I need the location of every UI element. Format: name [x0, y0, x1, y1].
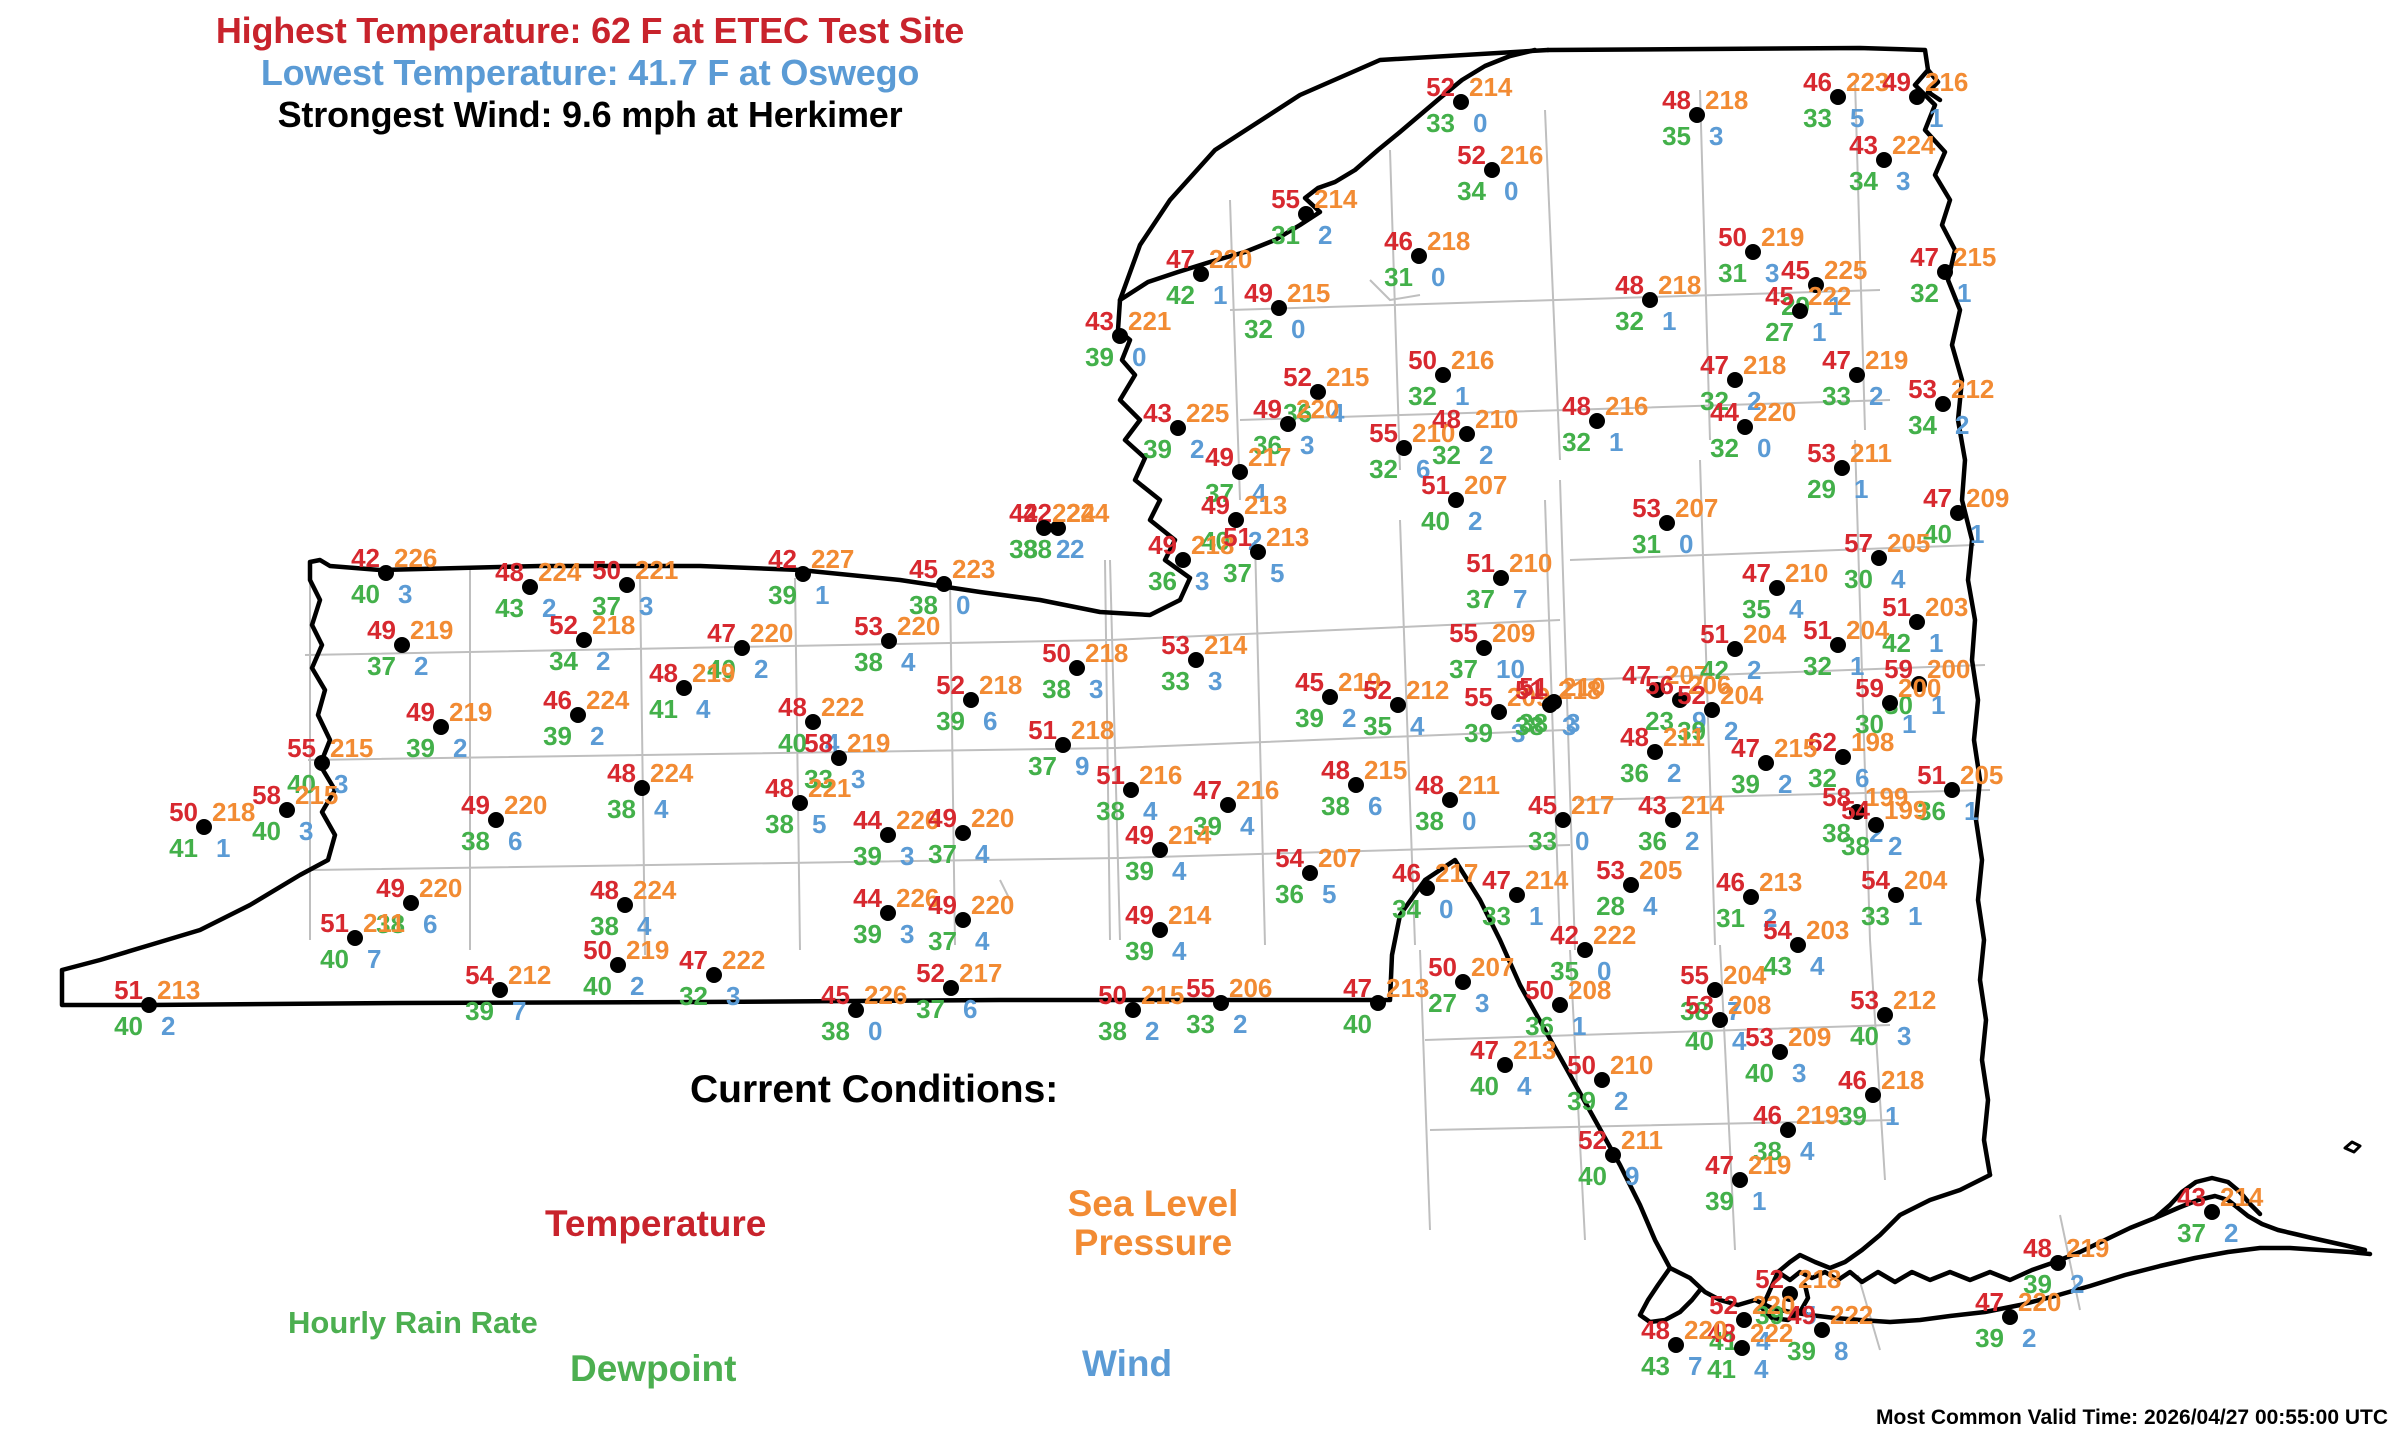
station-dewpoint-value: 27 — [1428, 990, 1457, 1016]
station-wind-value: 6 — [423, 911, 437, 937]
station-pressure-value: 214 — [2220, 1184, 2263, 1210]
station-temperature-value: 50 — [583, 937, 612, 963]
station-dot-icon — [1704, 702, 1720, 718]
station-pressure-value: 220 — [1684, 1317, 1727, 1343]
station-temperature-value: 47 — [1910, 244, 1939, 270]
station-pressure-value: 216 — [1236, 777, 1279, 803]
station-dot-icon — [1577, 942, 1593, 958]
station-pressure-value: 204 — [1723, 962, 1766, 988]
station-pressure-value: 214 — [1525, 867, 1568, 893]
station-pressure-value: 224 — [538, 559, 581, 585]
station-pressure-value: 206 — [1229, 975, 1272, 1001]
station-temperature-value: 47 — [1731, 735, 1760, 761]
station-temperature-value: 51 — [1028, 717, 1057, 743]
station-dot-icon — [1712, 1012, 1728, 1028]
station-dot-icon — [1411, 248, 1427, 264]
station-dewpoint-value: 40 — [1470, 1073, 1499, 1099]
station-pressure-value: 217 — [1435, 860, 1478, 886]
station-temperature-value: 51 — [1421, 472, 1450, 498]
station-wind-value: 1 — [1752, 1188, 1766, 1214]
station-wind-value: 2 — [1468, 508, 1482, 534]
station-wind-value: 5 — [1850, 105, 1864, 131]
station-dewpoint-value: 43 — [495, 595, 524, 621]
station-dot-icon — [1188, 652, 1204, 668]
station-dot-icon — [848, 1002, 864, 1018]
station-temperature-value: 49 — [1882, 69, 1911, 95]
station-dot-icon — [1170, 420, 1186, 436]
station-wind-value: 2 — [1318, 222, 1332, 248]
station-wind-value: 0 — [1291, 316, 1305, 342]
station-wind-value: 3 — [1300, 432, 1314, 458]
station-pressure-value: 213 — [1244, 492, 1287, 518]
station-pressure-value: 222 — [1830, 1302, 1873, 1328]
station-pressure-value: 199 — [1884, 797, 1927, 823]
station-temperature-value: 54 — [1763, 917, 1792, 943]
station-pressure-value: 222 — [821, 694, 864, 720]
station-wind-value: 2 — [2224, 1220, 2238, 1246]
station-wind-value: 2 — [1233, 1011, 1247, 1037]
station-wind-value: 2 — [161, 1013, 175, 1039]
station-dot-icon — [1950, 505, 1966, 521]
station-pressure-value: 224 — [586, 687, 629, 713]
station-dewpoint-value: 31 — [1718, 260, 1747, 286]
station-wind-value: 3 — [299, 818, 313, 844]
station-temperature-value: 48 — [1562, 393, 1591, 419]
station-dewpoint-value: 34 — [1908, 412, 1937, 438]
station-dewpoint-value: 43 — [1763, 953, 1792, 979]
station-temperature-value: 48 — [607, 760, 636, 786]
station-pressure-value: 226 — [864, 982, 907, 1008]
station-dewpoint-value: 39 — [1731, 771, 1760, 797]
station-temperature-value: 50 — [1042, 640, 1071, 666]
station-wind-value: 1 — [1812, 319, 1826, 345]
station-wind-value: 3 — [1208, 668, 1222, 694]
station-dewpoint-value: 39 — [465, 998, 494, 1024]
station-pressure-value: 219 — [449, 699, 492, 725]
station-temperature-value: 52 — [1363, 677, 1392, 703]
station-dewpoint-value: 39 — [768, 582, 797, 608]
station-pressure-value: 218 — [1743, 352, 1786, 378]
station-dot-icon — [1220, 797, 1236, 813]
station-pressure-value: 205 — [1887, 530, 1930, 556]
station-wind-value: 7 — [367, 946, 381, 972]
station-dot-icon — [2050, 1255, 2066, 1271]
station-dot-icon — [141, 997, 157, 1013]
station-temperature-value: 53 — [1807, 440, 1836, 466]
station-dewpoint-value: 38 — [1098, 1018, 1127, 1044]
station-wind-value: 8 — [1834, 1338, 1848, 1364]
station-temperature-value: 43 — [1849, 132, 1878, 158]
station-dot-icon — [1647, 744, 1663, 760]
station-temperature-value: 53 — [1161, 632, 1190, 658]
station-wind-value: 0 — [956, 592, 970, 618]
station-temperature-value: 48 — [649, 660, 678, 686]
station-dewpoint-value: 38 — [1519, 710, 1548, 736]
station-temperature-value: 51 — [1519, 674, 1548, 700]
station-wind-value: 2 — [630, 973, 644, 999]
station-wind-value: 4 — [654, 796, 668, 822]
station-pressure-value: 212 — [1406, 677, 1449, 703]
station-wind-value: 3 — [900, 843, 914, 869]
station-pressure-value: 220 — [1753, 399, 1796, 425]
station-pressure-value: 213 — [1266, 524, 1309, 550]
station-dot-icon — [1642, 292, 1658, 308]
station-dewpoint-value: 39 — [1125, 858, 1154, 884]
legend-hourly-rain-rate: Hourly Rain Rate — [288, 1307, 538, 1340]
station-temperature-value: 52 — [1426, 74, 1455, 100]
station-temperature-value: 50 — [1428, 954, 1457, 980]
station-pressure-value: 209 — [1788, 1024, 1831, 1050]
station-dot-icon — [1123, 782, 1139, 798]
station-dot-icon — [880, 905, 896, 921]
station-dot-icon — [1370, 995, 1386, 1011]
station-dot-icon — [1769, 580, 1785, 596]
station-dot-icon — [1814, 1322, 1830, 1338]
station-wind-value: 3 — [1089, 676, 1103, 702]
station-wind-value: 4 — [1800, 1138, 1814, 1164]
station-dewpoint-value: 33 — [1186, 1011, 1215, 1037]
station-temperature-value: 51 — [1096, 762, 1125, 788]
station-wind-value: 3 — [1792, 1060, 1806, 1086]
station-wind-value: 2 — [1888, 833, 1902, 859]
station-wind-value: 4 — [975, 928, 989, 954]
station-dot-icon — [1888, 887, 1904, 903]
station-temperature-value: 48 — [1432, 406, 1461, 432]
station-pressure-value: 208 — [1728, 992, 1771, 1018]
station-temperature-value: 48 — [778, 694, 807, 720]
station-wind-value: 1 — [1902, 711, 1916, 737]
station-pressure-value: 224 — [1892, 132, 1935, 158]
station-temperature-value: 52 — [1755, 1266, 1784, 1292]
station-pressure-value: 219 — [1865, 347, 1908, 373]
station-wind-value: 4 — [696, 696, 710, 722]
station-dot-icon — [617, 897, 633, 913]
station-pressure-value: 214 — [1168, 822, 1211, 848]
station-wind-value: 2 — [1614, 1088, 1628, 1114]
station-pressure-value: 219 — [626, 937, 669, 963]
station-pressure-value: 219 — [692, 660, 735, 686]
station-dewpoint-value: 39 — [1567, 1088, 1596, 1114]
station-wind-value: 4 — [1643, 893, 1657, 919]
station-dot-icon — [1509, 887, 1525, 903]
station-dewpoint-value: 37 — [2177, 1220, 2206, 1246]
station-temperature-value: 49 — [1244, 280, 1273, 306]
station-wind-value: 3 — [398, 581, 412, 607]
station-pressure-value: 212 — [508, 962, 551, 988]
station-pressure-value: 216 — [1139, 762, 1182, 788]
station-dewpoint-value: 32 — [1710, 435, 1739, 461]
station-pressure-value: 215 — [1364, 757, 1407, 783]
station-pressure-value: 215 — [295, 782, 338, 808]
station-temperature-value: 48 — [495, 559, 524, 585]
station-dewpoint-value: 37 — [928, 928, 957, 954]
station-temperature-value: 43 — [2177, 1184, 2206, 1210]
station-dewpoint-value: 34 — [549, 648, 578, 674]
station-temperature-value: 48 — [1662, 87, 1691, 113]
station-dot-icon — [1280, 416, 1296, 432]
station-dot-icon — [378, 565, 394, 581]
station-wind-value: 1 — [216, 835, 230, 861]
station-wind-value: 1 — [1929, 105, 1943, 131]
station-temperature-value: 53 — [1685, 992, 1714, 1018]
station-dewpoint-value: 37 — [367, 653, 396, 679]
station-dewpoint-value: 39 — [1125, 938, 1154, 964]
station-dot-icon — [1232, 464, 1248, 480]
station-dot-icon — [1484, 162, 1500, 178]
station-wind-value: 1 — [1885, 1103, 1899, 1129]
station-temperature-value: 55 — [1186, 975, 1215, 1001]
station-wind-value: 1 — [1529, 903, 1543, 929]
legend-title: Current Conditions: — [690, 1068, 1058, 1112]
station-pressure-value: 211 — [1850, 440, 1892, 466]
station-pressure-value: 211 — [1458, 772, 1500, 798]
station-pressure-value: 215 — [1326, 364, 1369, 390]
station-dewpoint-value: 40 — [1685, 1028, 1714, 1054]
station-dot-icon — [1834, 460, 1850, 476]
station-dewpoint-value: 32 — [1369, 456, 1398, 482]
station-dot-icon — [1069, 660, 1085, 676]
station-dewpoint-value: 39 — [2023, 1271, 2052, 1297]
station-dewpoint-value: 40 — [114, 1013, 143, 1039]
station-pressure-value: 219 — [847, 730, 890, 756]
station-dot-icon — [1935, 396, 1951, 412]
station-temperature-value: 45 — [1781, 257, 1810, 283]
station-temperature-value: 42 — [1550, 922, 1579, 948]
station-wind-value: 6 — [1368, 793, 1382, 819]
station-pressure-value: 222 — [722, 947, 765, 973]
station-dewpoint-value: 38 — [854, 649, 883, 675]
station-dewpoint-value: 37 — [916, 996, 945, 1022]
station-temperature-value: 49 — [1125, 822, 1154, 848]
station-pressure-value: 218 — [592, 612, 635, 638]
station-pressure-value: 218 — [1798, 1266, 1841, 1292]
station-dot-icon — [955, 912, 971, 928]
station-dot-icon — [1442, 792, 1458, 808]
station-pressure-value: 220 — [419, 875, 462, 901]
station-dot-icon — [1594, 1072, 1610, 1088]
station-wind-value: 3 — [1897, 1023, 1911, 1049]
station-pressure-value: 211 — [1621, 1127, 1663, 1153]
station-pressure-value: 218 — [1085, 640, 1128, 666]
station-temperature-value: 52 — [1457, 142, 1486, 168]
station-pressure-value: 219 — [410, 617, 453, 643]
station-dot-icon — [795, 566, 811, 582]
station-temperature-value: 42 — [351, 545, 380, 571]
station-dewpoint-value: 34 — [1849, 168, 1878, 194]
station-dot-icon — [1780, 1122, 1796, 1138]
station-dot-icon — [1348, 777, 1364, 793]
station-dewpoint-value: 34 — [1392, 896, 1421, 922]
station-temperature-value: 55 — [1464, 684, 1493, 710]
station-pressure-value: 219 — [1796, 1102, 1839, 1128]
station-pressure-value: 204 — [1846, 617, 1889, 643]
station-pressure-value: 220 — [1209, 246, 1252, 272]
station-dot-icon — [347, 930, 363, 946]
station-dewpoint-value: 38 — [1042, 676, 1071, 702]
station-pressure-value: 221 — [1128, 308, 1171, 334]
station-pressure-value: 200 — [1898, 675, 1941, 701]
station-dewpoint-value: 39 — [1838, 1103, 1867, 1129]
station-temperature-value: 49 — [1148, 532, 1177, 558]
station-temperature-value: 51 — [1700, 621, 1729, 647]
station-temperature-value: 51 — [1917, 762, 1946, 788]
station-dewpoint-value: 30 — [1844, 566, 1873, 592]
station-wind-value: 4 — [1172, 938, 1186, 964]
station-temperature-value: 43 — [1143, 400, 1172, 426]
station-temperature-value: 46 — [1392, 860, 1421, 886]
station-temperature-value: 52 — [1283, 364, 1312, 390]
station-wind-value: 0 — [1431, 264, 1445, 290]
station-pressure-value: 218 — [1705, 87, 1748, 113]
station-dewpoint-value: 39 — [1085, 344, 1114, 370]
station-dewpoint-value: 40 — [351, 581, 380, 607]
station-dot-icon — [1435, 367, 1451, 383]
station-dot-icon — [279, 802, 295, 818]
station-wind-value: 4 — [1754, 1356, 1768, 1382]
station-wind-value: 4 — [1810, 953, 1824, 979]
station-dot-icon — [1876, 152, 1892, 168]
station-dewpoint-value: 38 — [607, 796, 636, 822]
station-pressure-value: 220 — [504, 792, 547, 818]
station-temperature-value: 53 — [854, 613, 883, 639]
station-dot-icon — [1743, 889, 1759, 905]
station-dewpoint-value: 32 — [1562, 429, 1591, 455]
station-dot-icon — [1213, 995, 1229, 1011]
station-temperature-value: 47 — [679, 947, 708, 973]
station-pressure-value: 204 — [1720, 682, 1763, 708]
station-wind-value: 2 — [2022, 1325, 2036, 1351]
station-temperature-value: 45 — [1528, 792, 1557, 818]
station-temperature-value: 42 — [768, 546, 797, 572]
station-dewpoint-value: 34 — [1457, 178, 1486, 204]
station-temperature-value: 50 — [592, 557, 621, 583]
station-wind-value: 7 — [1513, 586, 1527, 612]
station-dewpoint-value: 37 — [1449, 656, 1478, 682]
station-wind-value: 5 — [1270, 560, 1284, 586]
station-wind-value: 2 — [1056, 536, 1070, 562]
station-dewpoint-value: 32 — [1432, 442, 1461, 468]
station-dot-icon — [880, 827, 896, 843]
station-dot-icon — [1745, 244, 1761, 260]
station-pressure-value: 216 — [1925, 69, 1968, 95]
station-wind-value: 0 — [1462, 808, 1476, 834]
station-wind-value: 2 — [1667, 760, 1681, 786]
station-wind-value: 6 — [983, 708, 997, 734]
station-wind-value: 0 — [1575, 828, 1589, 854]
station-dot-icon — [1849, 367, 1865, 383]
station-pressure-value: 213 — [1513, 1037, 1556, 1063]
station-wind-value: 4 — [901, 649, 915, 675]
station-dot-icon — [1871, 550, 1887, 566]
station-dot-icon — [1448, 492, 1464, 508]
station-dewpoint-value: 39 — [853, 921, 882, 947]
station-wind-value: 1 — [1213, 282, 1227, 308]
station-dewpoint-value: 39 — [1975, 1325, 2004, 1351]
station-temperature-value: 58 — [252, 782, 281, 808]
station-wind-value: 0 — [1757, 435, 1771, 461]
station-dewpoint-value: 40 — [252, 818, 281, 844]
station-temperature-value: 45 — [1295, 669, 1324, 695]
station-pressure-value: 205 — [1639, 857, 1682, 883]
station-pressure-value: 215 — [1141, 982, 1184, 1008]
station-dewpoint-value: 38 — [1415, 808, 1444, 834]
station-wind-value: 0 — [1439, 896, 1453, 922]
station-temperature-value: 48 — [1641, 1317, 1670, 1343]
station-temperature-value: 53 — [1596, 857, 1625, 883]
station-pressure-value: 215 — [1774, 735, 1817, 761]
station-dewpoint-value: 40 — [583, 973, 612, 999]
station-pressure-value: 204 — [1904, 867, 1947, 893]
station-temperature-value: 45 — [1765, 283, 1794, 309]
station-temperature-value: 48 — [1321, 757, 1350, 783]
station-pressure-value: 209 — [1492, 620, 1535, 646]
station-dot-icon — [570, 707, 586, 723]
station-dewpoint-value: 32 — [1910, 280, 1939, 306]
station-dot-icon — [1732, 1172, 1748, 1188]
station-temperature-value: 49 — [406, 699, 435, 725]
station-temperature-value: 54 — [465, 962, 494, 988]
station-dot-icon — [1737, 419, 1753, 435]
station-temperature-value: 47 — [1923, 485, 1952, 511]
station-dot-icon — [610, 957, 626, 973]
station-temperature-value: 49 — [461, 792, 490, 818]
station-dewpoint-value: 38 — [765, 811, 794, 837]
station-dewpoint-value: 40 — [320, 946, 349, 972]
station-temperature-value: 51 — [1803, 617, 1832, 643]
station-pressure-value: 217 — [959, 960, 1002, 986]
station-wind-value: 4 — [1172, 858, 1186, 884]
station-pressure-value: 207 — [1471, 954, 1514, 980]
station-temperature-value: 55 — [287, 735, 316, 761]
station-dot-icon — [488, 812, 504, 828]
station-temperature-value: 46 — [1803, 69, 1832, 95]
station-dot-icon — [1555, 812, 1571, 828]
station-dewpoint-value: 41 — [1707, 1356, 1736, 1382]
station-temperature-value: 53 — [1850, 987, 1879, 1013]
station-pressure-value: 210 — [1610, 1052, 1653, 1078]
station-pressure-value: 210 — [1475, 406, 1518, 432]
station-temperature-value: 49 — [1201, 492, 1230, 518]
station-pressure-value: 218 — [1881, 1067, 1924, 1093]
station-dewpoint-value: 38 — [1096, 798, 1125, 824]
station-dot-icon — [1390, 697, 1406, 713]
station-wind-value: 3 — [851, 766, 865, 792]
station-wind-value: 0 — [1504, 178, 1518, 204]
station-dot-icon — [1909, 614, 1925, 630]
station-dewpoint-value: 36 — [1638, 828, 1667, 854]
station-dot-icon — [936, 576, 952, 592]
station-wind-value: 1 — [1929, 630, 1943, 656]
legend-slp-line2: Pressure — [1043, 1224, 1263, 1263]
station-dot-icon — [1455, 974, 1471, 990]
station-wind-value: 9 — [1625, 1163, 1639, 1189]
station-dewpoint-value: 39 — [1295, 705, 1324, 731]
station-wind-value: 5 — [1322, 881, 1336, 907]
station-temperature-value: 52 — [916, 960, 945, 986]
legend-dewpoint: Dewpoint — [570, 1350, 736, 1389]
station-wind-value: 2 — [590, 723, 604, 749]
station-dot-icon — [1772, 1044, 1788, 1060]
station-dewpoint-value: 39 — [543, 723, 572, 749]
station-dot-icon — [1497, 1057, 1513, 1073]
station-pressure-value: 211 — [363, 910, 405, 936]
station-temperature-value: 50 — [1567, 1052, 1596, 1078]
station-dot-icon — [403, 895, 419, 911]
station-dot-icon — [1830, 637, 1846, 653]
station-dot-icon — [1944, 782, 1960, 798]
station-temperature-value: 46 — [1753, 1102, 1782, 1128]
station-temperature-value: 52 — [549, 612, 578, 638]
